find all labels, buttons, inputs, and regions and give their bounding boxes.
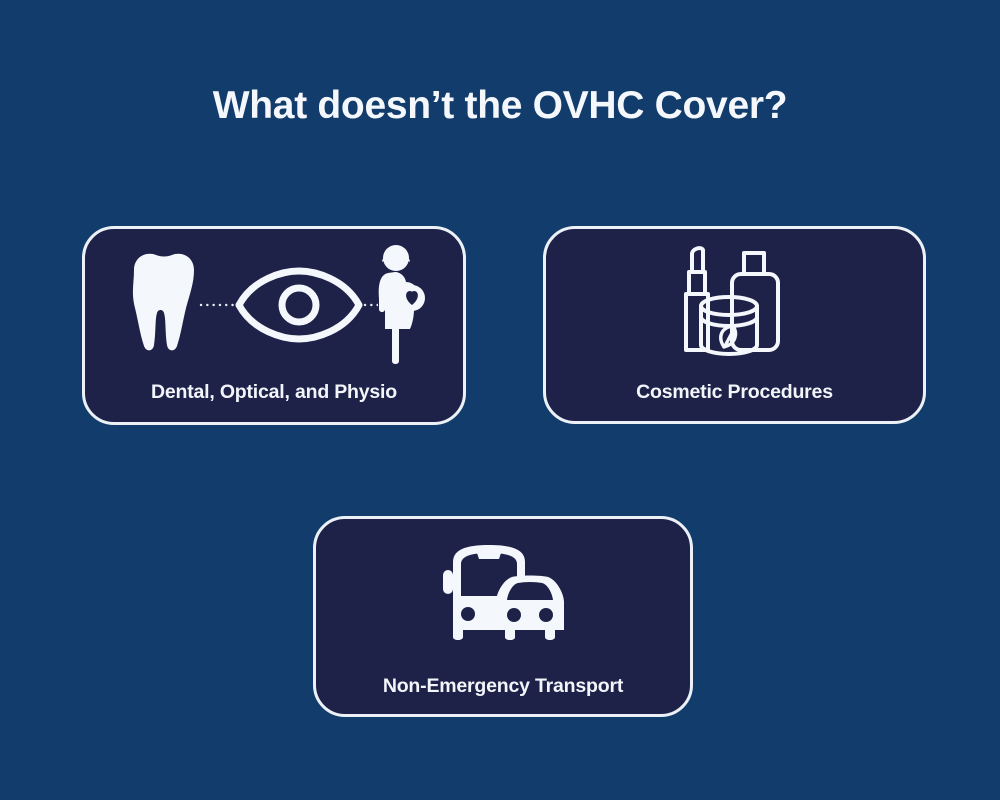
car-icon	[496, 576, 564, 641]
card-3-icon-group	[316, 535, 690, 653]
card-1-icon-group	[85, 245, 463, 365]
infographic-page: What doesn’t the OVHC Cover?	[0, 0, 1000, 800]
card-2-label: Cosmetic Procedures	[636, 381, 833, 404]
page-title: What doesn’t the OVHC Cover?	[0, 82, 1000, 130]
card-non-emergency-transport[interactable]: Non-Emergency Transport	[313, 516, 693, 717]
tooth-icon	[133, 254, 194, 351]
lipstick-icon	[686, 248, 708, 350]
pregnant-person-icon	[370, 243, 428, 367]
eye-icon	[239, 271, 359, 339]
dental-optical-physio-icon	[120, 249, 378, 361]
card-cosmetic-procedures[interactable]: Cosmetic Procedures	[543, 226, 926, 424]
card-1-label: Dental, Optical, and Physio	[151, 381, 397, 404]
card-dental-optical-physio[interactable]: Dental, Optical, and Physio	[82, 226, 466, 425]
transport-icon	[433, 542, 573, 646]
card-2-icon-group	[546, 243, 923, 361]
card-3-label: Non-Emergency Transport	[383, 675, 623, 698]
cosmetic-products-icon	[676, 244, 794, 360]
